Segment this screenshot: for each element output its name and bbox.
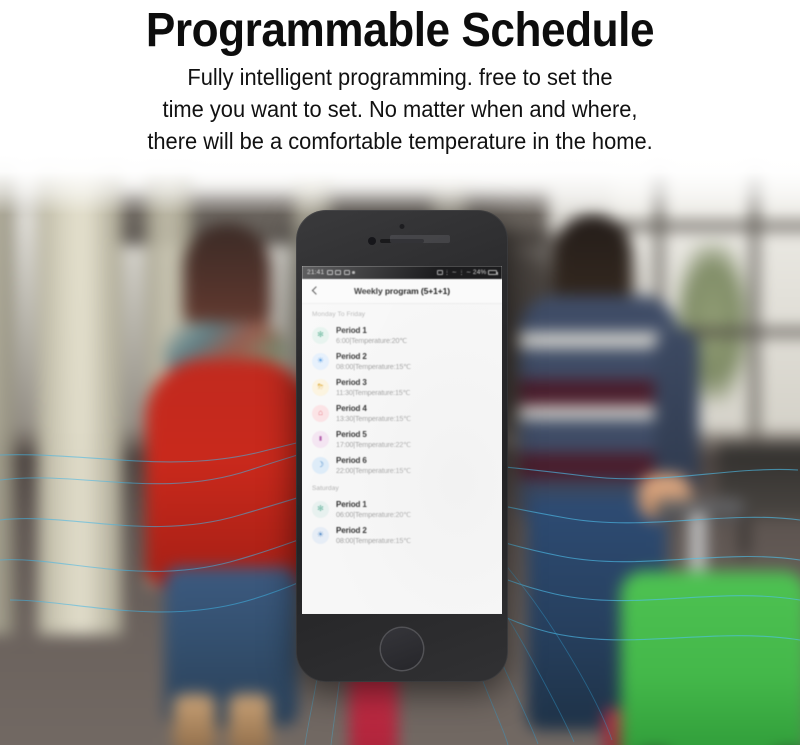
period-name: Period 1 [336,326,407,335]
list-item[interactable]: ⌂ Period 4 13:30|Temperature:15℃ [302,400,502,426]
status-time: 21:41 [307,269,324,276]
column [0,137,14,635]
period-name: Period 1 [336,500,411,509]
status-bar: 21:41 ⋮ ∼ ⋮ ∼ 24% [302,266,502,279]
leaf-sun-icon: ✻ [312,327,329,344]
alarm-icon [335,270,341,275]
railing-bar [612,221,800,231]
list-item[interactable]: ☽ Period 6 22:00|Temperature:15℃ [302,452,502,478]
mute-icon [437,270,443,275]
schedule-list[interactable]: Monday To Friday ✻ Period 1 6:00|Tempera… [302,304,502,614]
sun-icon: ☀ [312,353,329,370]
person-left-sweater [146,359,313,587]
app-nav-bar: Weekly program (5+1+1) [302,279,502,304]
battery-percent: 24% [473,269,487,276]
period-detail: 11:30|Temperature:15℃ [336,388,411,397]
page-title-nav: Weekly program (5+1+1) [302,286,502,296]
alarm-icon [344,270,350,275]
list-item[interactable]: ☀ Period 2 08:00|Temperature:15℃ [302,348,502,374]
home-icon: ⌂ [312,405,329,422]
signal-icon: ⋮ [444,270,450,276]
person-left-head [184,224,271,338]
wifi-icon: ∼ [466,270,471,276]
chevron-left-icon[interactable] [310,287,319,296]
phone-screen: 21:41 ⋮ ∼ ⋮ ∼ 24% [302,266,502,614]
battery-icon [488,270,497,275]
period-name: Period 5 [336,430,411,439]
list-item[interactable]: ⛈ Period 3 11:30|Temperature:15℃ [302,374,502,400]
person-left-boot [228,694,270,745]
section-header-saturday: Saturday [302,478,502,496]
list-item[interactable]: ✻ Period 1 6:00|Temperature:20℃ [302,322,502,348]
person-right-arm [654,327,699,497]
person-left-boot [173,694,215,745]
moon-icon: ☽ [312,457,329,474]
period-name: Period 4 [336,404,411,413]
brand-logo [390,235,450,243]
phone-device: 21:41 ⋮ ∼ ⋮ ∼ 24% [296,210,508,682]
suitcase-handle-bar [688,513,707,579]
period-name: Period 2 [336,352,411,361]
list-item[interactable]: ☀ Period 2 08:00|Temperature:15℃ [302,522,502,548]
physical-home-button[interactable] [381,628,423,670]
period-name: Period 2 [336,526,411,535]
dot-icon [352,271,355,274]
section-header-weekday: Monday To Friday [302,304,502,322]
railing-post [750,158,760,476]
period-detail: 13:30|Temperature:15℃ [336,414,411,423]
period-detail: 22:00|Temperature:15℃ [336,466,411,475]
period-detail: 08:00|Temperature:15℃ [336,536,411,545]
signal-icon: ⋮ [458,270,464,276]
front-camera-icon [368,237,376,245]
sofa-icon: ▮ [312,431,329,448]
wifi-icon: ∼ [452,270,457,276]
period-name: Period 3 [336,378,411,387]
period-detail: 06:00|Temperature:20℃ [336,510,411,519]
status-bar-right: ⋮ ∼ ⋮ ∼ 24% [437,269,498,276]
proximity-sensor-icon [400,224,405,229]
list-item[interactable]: ▮ Period 5 17:00|Temperature:22℃ [302,426,502,452]
period-name: Period 6 [336,456,411,465]
green-suitcase [620,571,800,745]
period-detail: 6:00|Temperature:20℃ [336,336,407,345]
leaf-sun-icon: ✻ [312,501,329,518]
period-detail: 08:00|Temperature:15℃ [336,362,411,371]
period-detail: 17:00|Temperature:22℃ [336,440,411,449]
list-item[interactable]: ✻ Period 1 06:00|Temperature:20℃ [302,496,502,522]
person-icon: ⛈ [312,379,329,396]
sun-icon: ☀ [312,527,329,544]
column [37,137,122,635]
status-bar-left: 21:41 [307,269,355,276]
sim-card-icon [327,270,333,275]
